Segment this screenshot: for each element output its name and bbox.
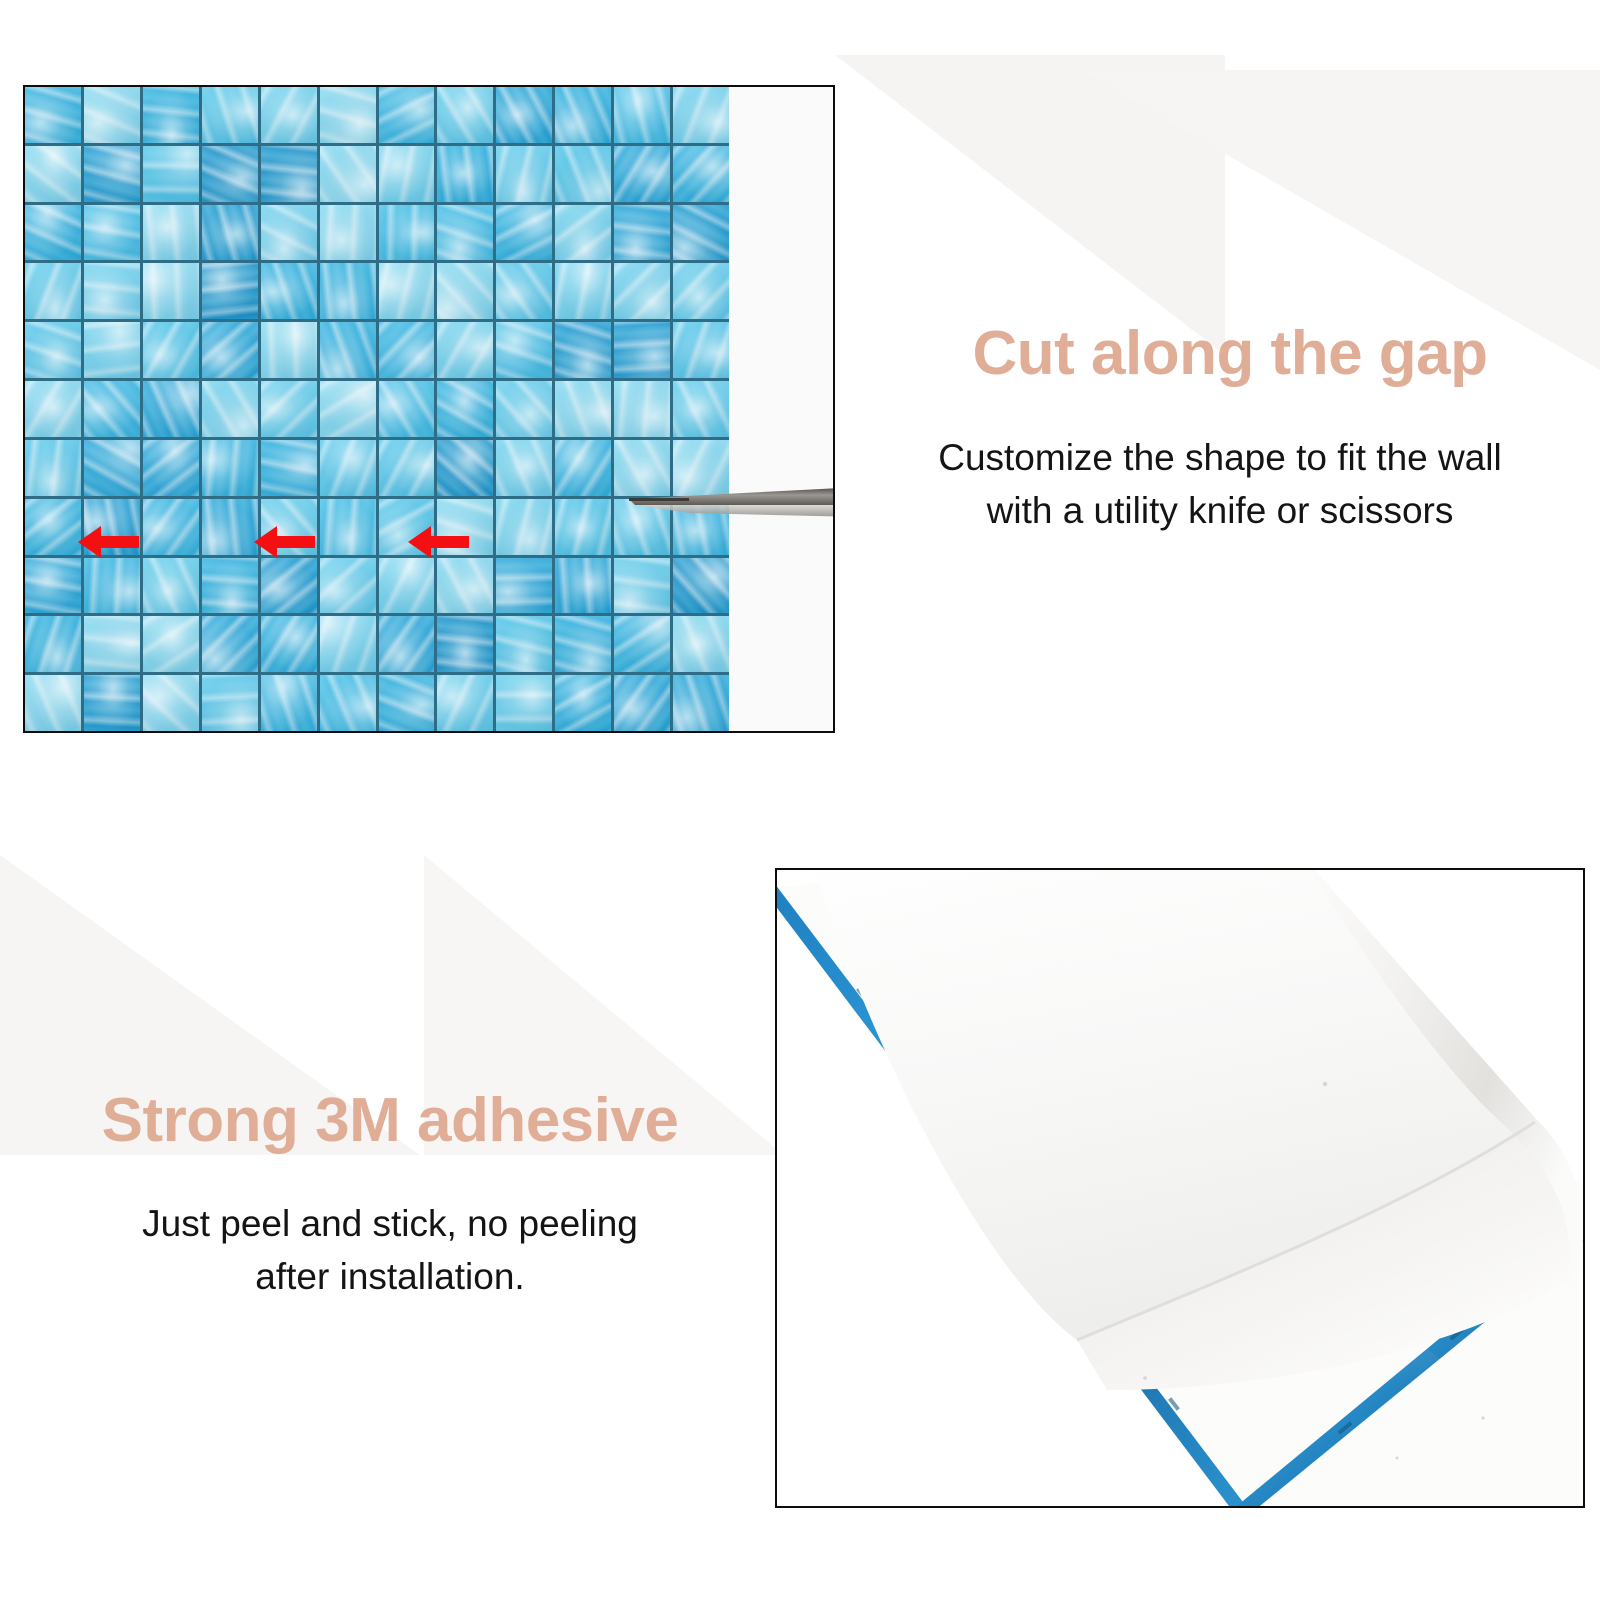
mosaic-tile <box>437 616 493 672</box>
mosaic-tile <box>320 675 376 731</box>
mosaic-tile <box>202 499 258 555</box>
mosaic-tile <box>261 616 317 672</box>
mosaic-tile <box>84 675 140 731</box>
mosaic-tile <box>202 322 258 378</box>
mosaic-tile <box>379 381 435 437</box>
mosaic-tile <box>496 558 552 614</box>
mosaic-tile <box>379 322 435 378</box>
mosaic-tile <box>437 440 493 496</box>
mosaic-tile <box>673 381 729 437</box>
mosaic-tile <box>25 263 81 319</box>
mosaic-tile <box>84 322 140 378</box>
strong-3m-adhesive-headline: Strong 3M adhesive <box>40 1085 740 1156</box>
mosaic-tile <box>143 675 199 731</box>
mosaic-tile <box>320 616 376 672</box>
mosaic-tile <box>84 87 140 143</box>
mosaic-tile <box>320 263 376 319</box>
mosaic-tile <box>437 263 493 319</box>
mosaic-tile <box>437 87 493 143</box>
mosaic-tile <box>261 558 317 614</box>
mosaic-tile <box>143 616 199 672</box>
mosaic-tile <box>496 146 552 202</box>
mosaic-tile <box>379 558 435 614</box>
mosaic-tile <box>320 87 376 143</box>
mosaic-tile <box>202 87 258 143</box>
mosaic-tile <box>143 322 199 378</box>
mosaic-tile <box>261 499 317 555</box>
mosaic-tile <box>320 558 376 614</box>
mosaic-tile <box>673 440 729 496</box>
mosaic-tile <box>261 205 317 261</box>
mosaic-tile <box>437 675 493 731</box>
mosaic-tile <box>202 146 258 202</box>
mosaic-tile <box>84 263 140 319</box>
mosaic-tile <box>496 263 552 319</box>
cut-along-the-gap-headline: Cut along the gap <box>880 318 1580 389</box>
mosaic-tile <box>673 558 729 614</box>
mosaic-tile <box>555 381 611 437</box>
mosaic-tile <box>202 616 258 672</box>
mosaic-tile <box>25 146 81 202</box>
mosaic-tile <box>25 675 81 731</box>
mosaic-tile <box>555 146 611 202</box>
mosaic-tile <box>379 263 435 319</box>
mosaic-tile <box>143 146 199 202</box>
mosaic-tile <box>437 381 493 437</box>
mosaic-tile <box>555 87 611 143</box>
mosaic-tile <box>25 381 81 437</box>
mosaic-tile <box>555 440 611 496</box>
mosaic-tile <box>84 616 140 672</box>
mosaic-tile <box>496 440 552 496</box>
mosaic-tile <box>320 499 376 555</box>
mosaic-tile <box>84 146 140 202</box>
mosaic-tile <box>555 675 611 731</box>
mosaic-tile <box>614 205 670 261</box>
mosaic-tile <box>555 205 611 261</box>
mosaic-tile <box>320 205 376 261</box>
mosaic-tile <box>320 322 376 378</box>
mosaic-tile <box>673 499 729 555</box>
peel-backing-illustration <box>777 870 1585 1508</box>
mosaic-tile <box>25 322 81 378</box>
mosaic-tile <box>143 263 199 319</box>
mosaic-tile <box>555 616 611 672</box>
mosaic-tile <box>202 675 258 731</box>
mosaic-tile <box>496 205 552 261</box>
mosaic-tile <box>673 675 729 731</box>
mosaic-tile <box>379 205 435 261</box>
mosaic-tile <box>261 146 317 202</box>
mosaic-tile <box>673 616 729 672</box>
mosaic-tile <box>261 440 317 496</box>
mosaic-tile <box>437 558 493 614</box>
mosaic-tile <box>261 87 317 143</box>
mosaic-tile <box>673 87 729 143</box>
mosaic-tile <box>614 616 670 672</box>
mosaic-tile <box>202 558 258 614</box>
mosaic-tile <box>261 675 317 731</box>
mosaic-tile <box>614 499 670 555</box>
mosaic-tile <box>496 675 552 731</box>
mosaic-tile <box>555 322 611 378</box>
mosaic-tile <box>614 263 670 319</box>
mosaic-tile <box>261 322 317 378</box>
mosaic-tile <box>84 205 140 261</box>
mosaic-tile <box>437 146 493 202</box>
mosaic-tile <box>673 205 729 261</box>
mosaic-tile <box>143 87 199 143</box>
mosaic-tile <box>143 558 199 614</box>
mosaic-tile <box>379 87 435 143</box>
mosaic-tile <box>84 499 140 555</box>
mosaic-tile <box>555 499 611 555</box>
cut-along-the-gap-subtext: Customize the shape to fit the wall with… <box>855 432 1585 537</box>
mosaic-tile <box>614 381 670 437</box>
mosaic-tile <box>261 263 317 319</box>
mosaic-tile <box>379 146 435 202</box>
mosaic-tile <box>84 558 140 614</box>
mosaic-tile <box>437 205 493 261</box>
mosaic-tile <box>496 87 552 143</box>
mosaic-tile <box>202 263 258 319</box>
peel-and-stick-backing-photo <box>775 868 1585 1508</box>
mosaic-tile <box>614 675 670 731</box>
mosaic-tile <box>614 558 670 614</box>
mosaic-tile <box>320 146 376 202</box>
mosaic-tile <box>379 675 435 731</box>
mosaic-tile <box>25 499 81 555</box>
mosaic-tile <box>379 499 435 555</box>
mosaic-tile <box>673 322 729 378</box>
mosaic-tile <box>25 558 81 614</box>
mosaic-tile <box>143 381 199 437</box>
mosaic-tile <box>673 263 729 319</box>
mosaic-tile <box>496 499 552 555</box>
mosaic-tile <box>25 87 81 143</box>
mosaic-tile <box>614 322 670 378</box>
mosaic-tile <box>84 440 140 496</box>
mosaic-tile <box>320 440 376 496</box>
mosaic-tile <box>614 87 670 143</box>
mosaic-tile <box>555 263 611 319</box>
strong-3m-adhesive-subtext: Just peel and stick, no peeling after in… <box>60 1198 720 1303</box>
mosaic-tile <box>496 616 552 672</box>
mosaic-tile <box>437 322 493 378</box>
mosaic-tile <box>84 381 140 437</box>
mosaic-tile <box>496 381 552 437</box>
mosaic-tile <box>673 146 729 202</box>
mosaic-tile <box>614 146 670 202</box>
mosaic-tile <box>143 440 199 496</box>
mosaic-tile <box>614 440 670 496</box>
mosaic-tile <box>555 558 611 614</box>
diagonal-accent-top-right-1 <box>835 55 1225 355</box>
mosaic-tile <box>202 381 258 437</box>
mosaic-tile <box>202 205 258 261</box>
mosaic-tile <box>261 381 317 437</box>
mosaic-tile-grid <box>25 87 729 731</box>
mosaic-tile <box>379 616 435 672</box>
mosaic-tile <box>25 205 81 261</box>
mosaic-tile <box>25 616 81 672</box>
mosaic-tile <box>202 440 258 496</box>
mosaic-tile <box>437 499 493 555</box>
mosaic-tile <box>320 381 376 437</box>
mosaic-tile <box>379 440 435 496</box>
mosaic-tile-sheet-photo <box>23 85 835 733</box>
mosaic-tile <box>25 440 81 496</box>
mosaic-tile <box>143 205 199 261</box>
mosaic-tile <box>143 499 199 555</box>
mosaic-tile <box>496 322 552 378</box>
